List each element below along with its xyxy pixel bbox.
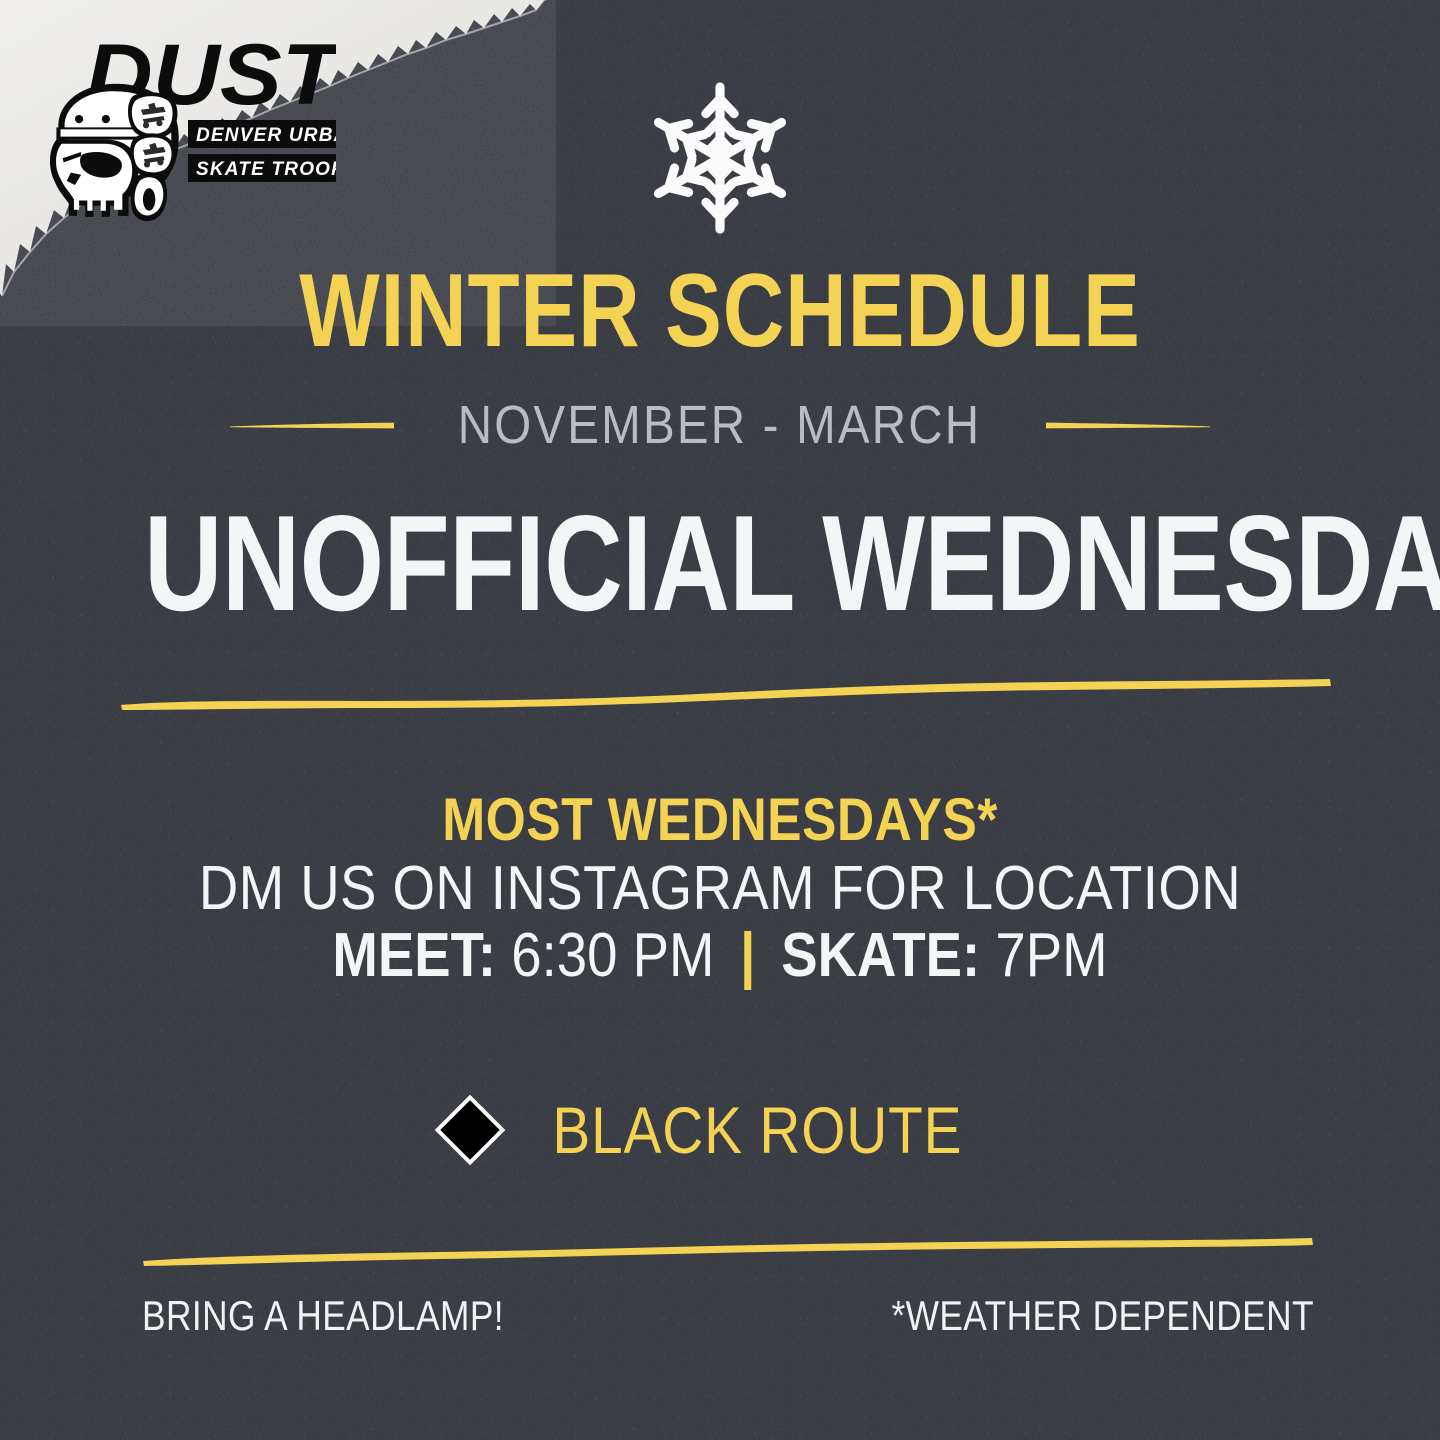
header-block: WINTER SCHEDULE [0, 262, 1440, 362]
times-separator: | [740, 923, 755, 989]
subtitle-row: NOVEMBER - MARCH [0, 394, 1440, 456]
details-block: MOST WEDNESDAYS* DM US ON INSTAGRAM FOR … [0, 788, 1440, 989]
brush-stroke-top [118, 672, 1333, 720]
frequency-text: MOST WEDNESDAYS* [101, 788, 1339, 852]
snowflake-icon [646, 78, 794, 238]
divider-line-left [228, 415, 396, 435]
footer-row: BRING A HEADLAMP! *WEATHER DEPENDENT [142, 1292, 1314, 1340]
times-row: MEET: 6:30 PM | SKATE: 7PM [86, 923, 1353, 989]
footer-right-note: *WEATHER DEPENDENT [892, 1292, 1314, 1340]
black-diamond-icon [434, 1095, 505, 1166]
route-row: BLACK ROUTE [0, 1092, 1440, 1168]
route-label: BLACK ROUTE [552, 1092, 962, 1168]
skull-helmet-icon [50, 84, 179, 221]
subtitle-months: NOVEMBER - MARCH [458, 394, 982, 456]
headline-text: UNOFFICIAL WEDNESDAYS! [144, 495, 1296, 631]
page-title: WINTER SCHEDULE [130, 262, 1311, 362]
tagline-line2-text: SKATE TROOP [196, 159, 336, 180]
dust-logo: DUST [36, 22, 336, 222]
poster-root: DUST [0, 0, 1440, 1440]
brush-stroke-bottom [140, 1234, 1315, 1278]
skate-label: SKATE: [781, 921, 980, 990]
meet-label: MEET: [332, 921, 496, 990]
headline-block: UNOFFICIAL WEDNESDAYS! [0, 495, 1440, 631]
divider-line-right [1044, 415, 1212, 435]
instructions-text: DM US ON INSTAGRAM FOR LOCATION [86, 856, 1353, 922]
meet-time: 6:30 PM [511, 921, 714, 990]
skate-time: 7PM [995, 921, 1107, 990]
tagline-line1-text: DENVER URBAN [196, 125, 336, 146]
footer-left-note: BRING A HEADLAMP! [142, 1292, 504, 1340]
